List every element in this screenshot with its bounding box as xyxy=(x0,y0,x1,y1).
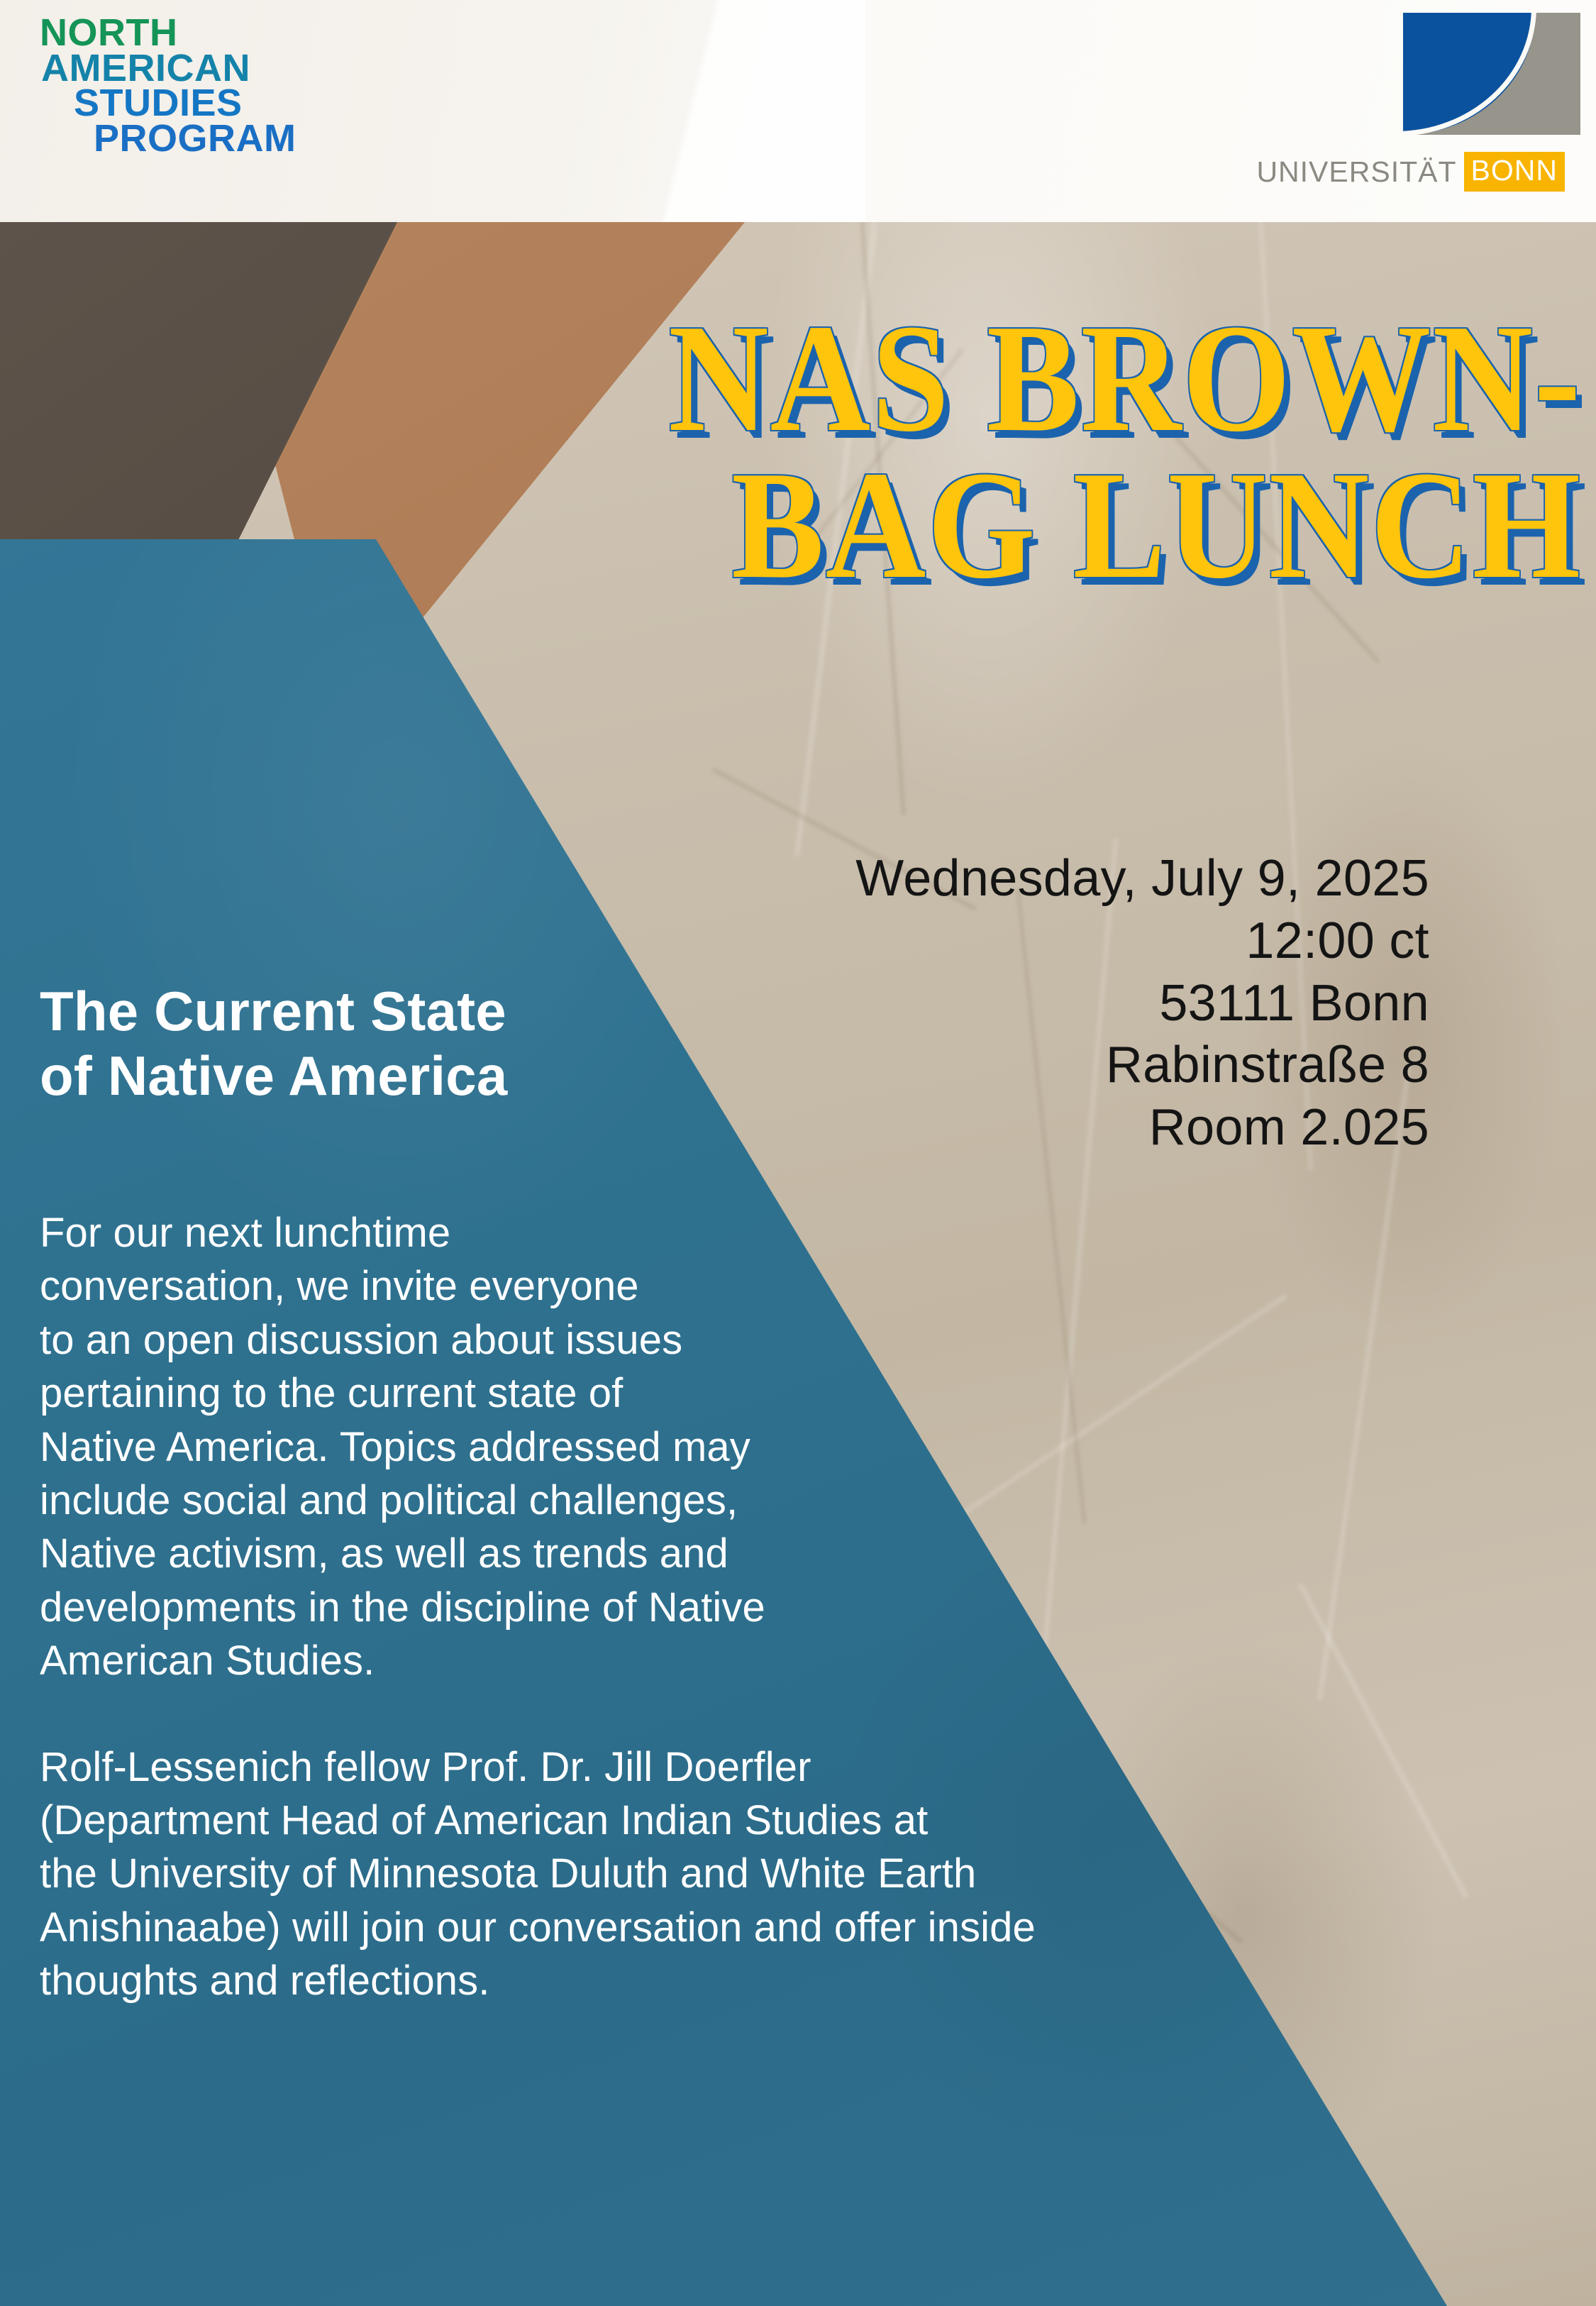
nas-logo-line-2: AMERICAN xyxy=(41,51,297,87)
description-line: American Studies. xyxy=(40,1634,1047,1687)
description-line: developments in the discipline of Native xyxy=(40,1581,1047,1634)
event-room: Room 2.025 xyxy=(649,1097,1429,1159)
poster-title-line-1: NAS BROWN- xyxy=(668,293,1582,464)
bonn-logo-wordmark: UNIVERSITÄT BONN xyxy=(1256,152,1565,192)
description-line: For our next lunchtime xyxy=(40,1206,1047,1259)
talk-title-line-1: The Current State xyxy=(40,979,749,1044)
description-paragraph-1: For our next lunchtime conversation, we … xyxy=(40,1206,1047,1688)
description-line: to an open discussion about issues xyxy=(40,1313,1047,1367)
paragraph-spacer xyxy=(40,1688,1047,1740)
poster-title-line-2: BAG LUNCH xyxy=(605,452,1582,599)
description-line: conversation, we invite everyone xyxy=(40,1259,1047,1313)
bonn-logo-universitaet-text: UNIVERSITÄT xyxy=(1256,155,1456,189)
header-crease-highlight xyxy=(539,0,865,222)
description-line: Anishinaabe) will join our conversation … xyxy=(40,1901,1047,1954)
talk-title-line-2: of Native America xyxy=(40,1044,749,1108)
description-line: the University of Minnesota Duluth and W… xyxy=(40,1847,1047,1900)
bonn-logo-bonn-text: BONN xyxy=(1464,152,1565,192)
description-line: include social and political challenges, xyxy=(40,1474,1047,1527)
description-line: Native America. Topics addressed may xyxy=(40,1420,1047,1474)
description-line: (Department Head of American Indian Stud… xyxy=(40,1794,1047,1847)
event-details-block: Wednesday, July 9, 2025 12:00 ct 53111 B… xyxy=(649,848,1429,1159)
north-american-studies-program-logo: NORTH AMERICAN STUDIES PROGRAM xyxy=(40,16,297,157)
event-date: Wednesday, July 9, 2025 xyxy=(649,848,1429,910)
event-postal-city: 53111 Bonn xyxy=(649,973,1429,1035)
description-line: Rolf-Lessenich fellow Prof. Dr. Jill Doe… xyxy=(40,1740,1047,1794)
nas-logo-line-1: NORTH xyxy=(40,16,297,51)
talk-title: The Current State of Native America xyxy=(40,979,749,1109)
event-street-address: Rabinstraße 8 xyxy=(649,1035,1429,1097)
nas-logo-line-3: STUDIES xyxy=(74,86,297,121)
description-line: thoughts and reflections. xyxy=(40,1954,1047,2007)
event-time: 12:00 ct xyxy=(649,910,1429,973)
description-line: pertaining to the current state of xyxy=(40,1367,1047,1420)
poster-title: NAS BROWN- BAG LUNCH xyxy=(605,305,1582,599)
description-line: Native activism, as well as trends and xyxy=(40,1527,1047,1580)
description-paragraph-2: Rolf-Lessenich fellow Prof. Dr. Jill Doe… xyxy=(40,1740,1047,2008)
university-of-bonn-logo: UNIVERSITÄT BONN xyxy=(1403,13,1580,135)
talk-description: For our next lunchtime conversation, we … xyxy=(40,1206,1047,2007)
header-band: NORTH AMERICAN STUDIES PROGRAM UNIVERSIT… xyxy=(0,0,1596,222)
bonn-logo-mark-icon xyxy=(1403,13,1580,135)
nas-logo-line-4: PROGRAM xyxy=(94,121,297,157)
poster-canvas: NORTH AMERICAN STUDIES PROGRAM UNIVERSIT… xyxy=(0,0,1596,2306)
